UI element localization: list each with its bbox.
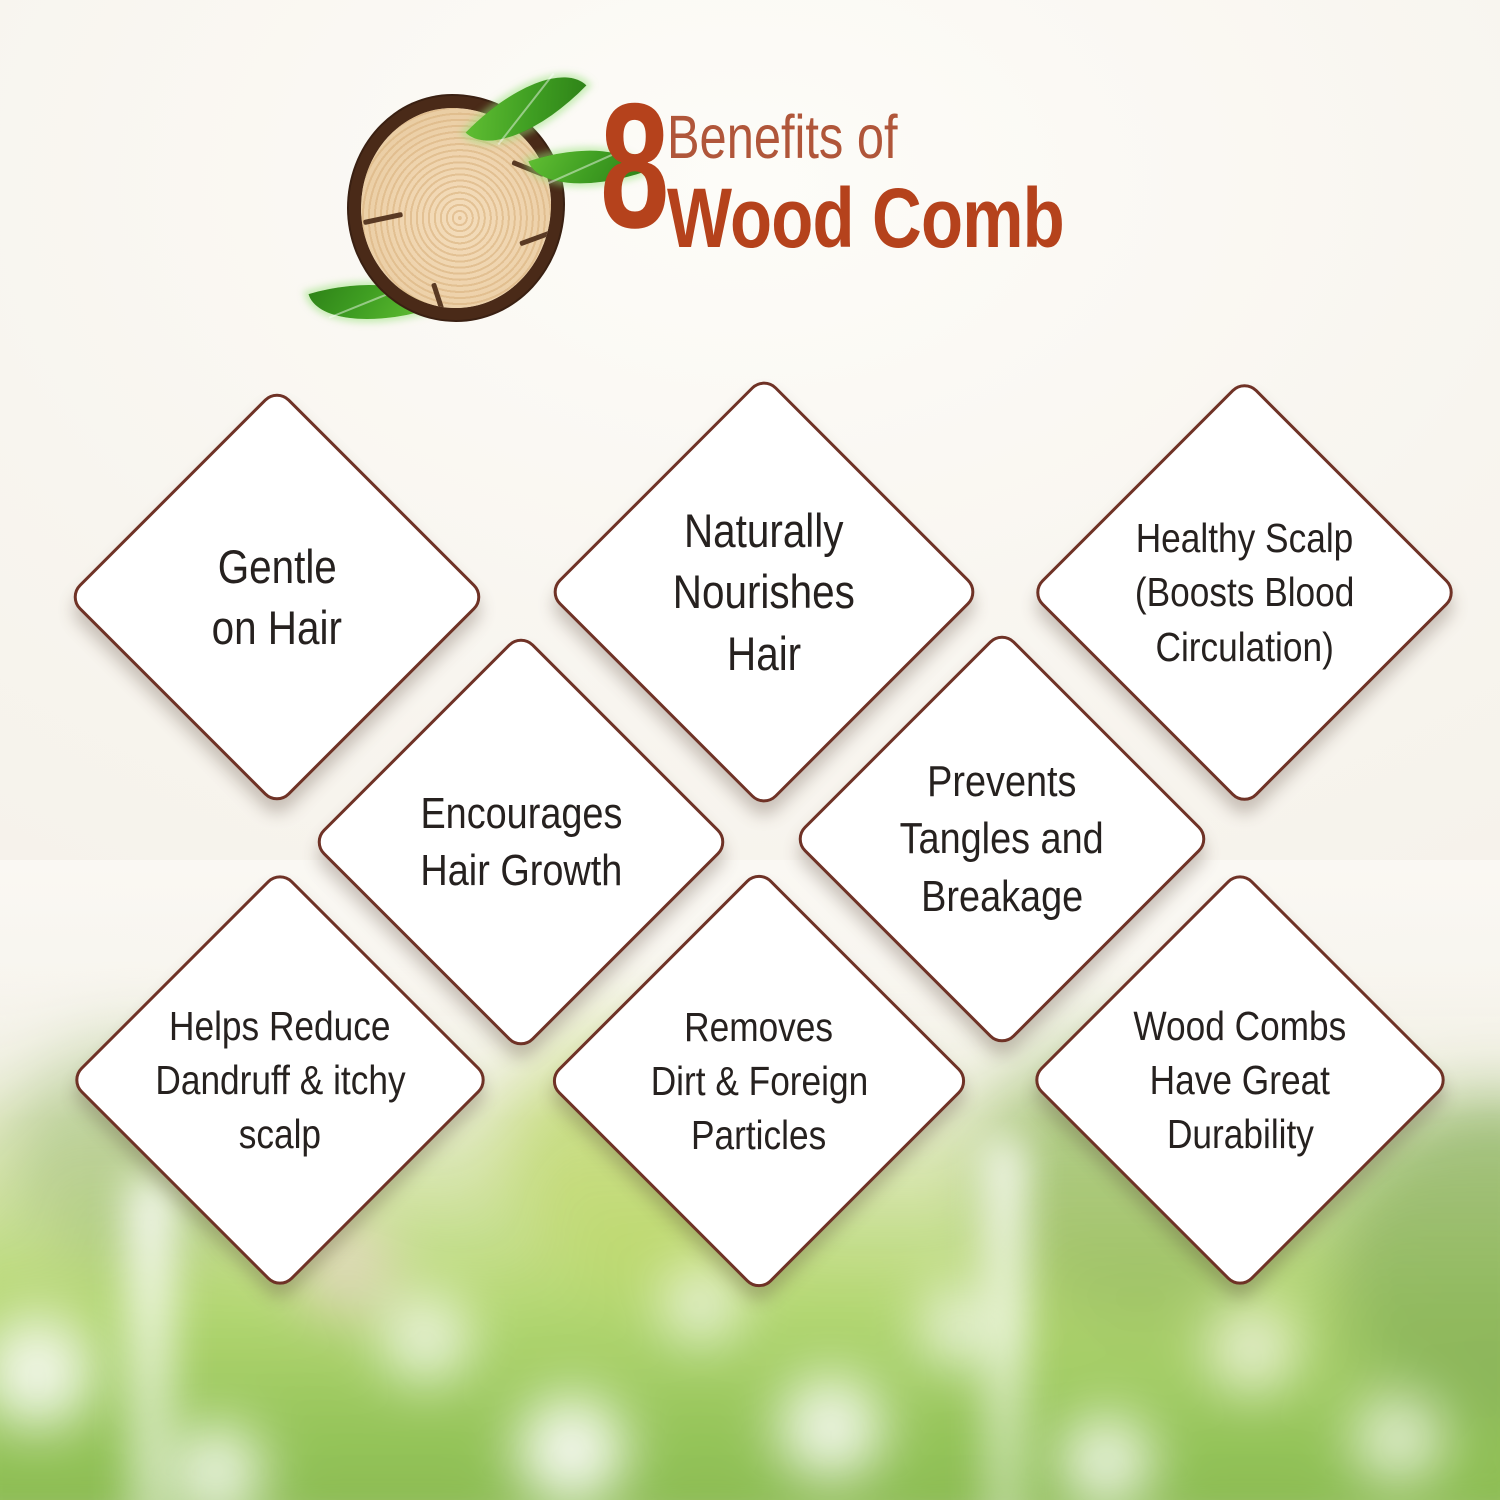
benefit-line: Durability <box>1167 1107 1314 1161</box>
benefit-line: Prevents <box>927 753 1076 810</box>
benefit-line: Wood Combs <box>1134 999 1347 1053</box>
benefit-line: Healthy Scalp <box>1136 511 1354 565</box>
background-post-right <box>985 1140 1025 1500</box>
benefit-line: Have Great <box>1150 1053 1330 1107</box>
benefit-label: Healthy Scalp (Boosts Blood Circulation) <box>1095 443 1394 742</box>
benefit-line: on Hair <box>212 597 342 658</box>
background-post-left <box>128 1180 174 1500</box>
benefit-line: Helps Reduce <box>169 999 390 1053</box>
wood-slice-logo <box>355 100 570 315</box>
benefit-line: Particles <box>691 1108 826 1162</box>
benefit-line: Removes <box>685 1000 834 1054</box>
benefit-line: Hair Growth <box>420 842 622 899</box>
header: 8 Benefits of Wood Comb <box>300 45 1200 335</box>
benefit-line: Dandruff & itchy <box>155 1053 405 1107</box>
wood-crack <box>363 212 403 225</box>
benefit-line: Nourishes <box>673 561 855 622</box>
wood-crack <box>431 282 445 308</box>
benefit-count: 8 <box>600 93 665 239</box>
benefit-line: Gentle <box>217 536 336 597</box>
benefit-line: Circulation) <box>1155 620 1333 674</box>
benefit-line: Encourages <box>420 785 622 842</box>
benefit-label: Helps Reduce Dandruff & itchy scalp <box>133 933 427 1227</box>
benefit-line: Hair <box>727 623 801 684</box>
page-title: 8 Benefits of Wood Comb <box>600 93 1200 263</box>
wood-crack <box>519 231 551 247</box>
benefit-line: Dirt & Foreign <box>650 1054 868 1108</box>
benefit-line: (Boosts Blood <box>1135 565 1355 619</box>
title-line-1: Benefits of <box>667 107 1054 168</box>
title-line-2: Wood Comb <box>667 174 1064 263</box>
infographic-canvas: 8 Benefits of Wood Comb Gentle on Hair E… <box>0 0 1500 1500</box>
benefit-line: Naturally <box>684 500 843 561</box>
benefit-label: Removes Dirt & Foreign Particles <box>611 933 907 1229</box>
benefit-label: Wood Combs Have Great Durability <box>1093 933 1387 1227</box>
benefit-line: Tangles and <box>900 810 1104 867</box>
wood-slice-icon <box>361 108 551 308</box>
benefit-line: scalp <box>239 1107 321 1161</box>
benefit-line: Breakage <box>921 868 1083 925</box>
